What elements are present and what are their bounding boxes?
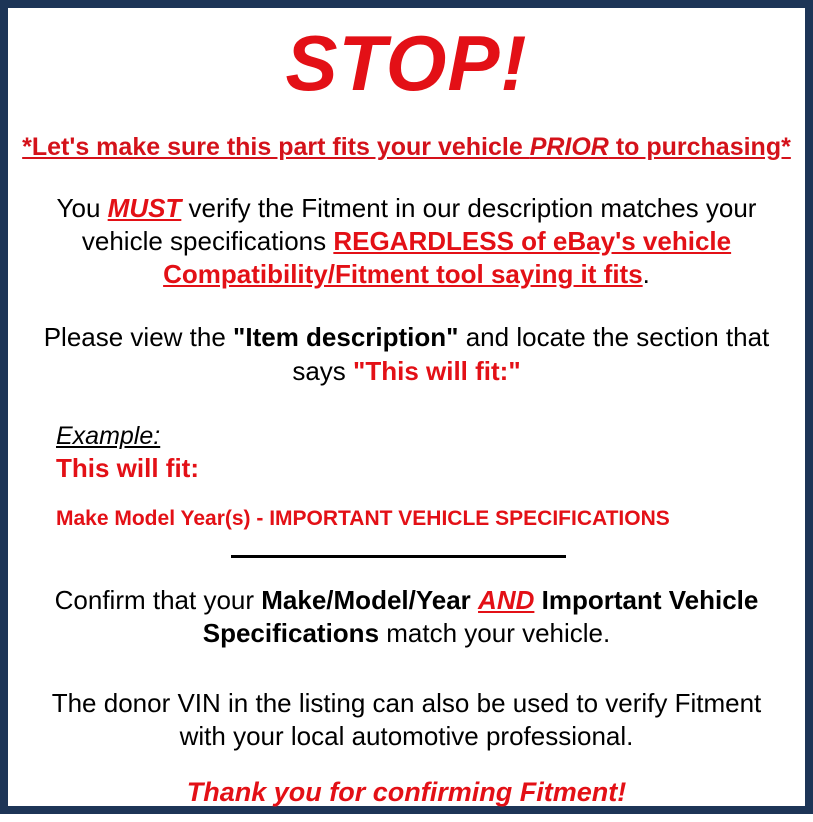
divider-container	[18, 555, 795, 558]
fitment-notice-frame: STOP! *Let's make sure this part fits yo…	[0, 0, 813, 814]
page-title: STOP!	[18, 24, 795, 102]
example-fit-heading: This will fit:	[56, 453, 795, 484]
paragraph-must-verify: You MUST verify the Fitment in our descr…	[18, 192, 795, 292]
view-text-part1: Please view the	[44, 322, 233, 352]
must-text-part1: You	[57, 193, 108, 223]
tagline: *Let's make sure this part fits your veh…	[18, 134, 795, 162]
confirm-text-part3	[534, 585, 541, 615]
must-text-part3: .	[643, 259, 650, 289]
and-emphasis: AND	[478, 585, 534, 615]
paragraph-confirm: Confirm that your Make/Model/Year AND Im…	[18, 584, 795, 651]
this-will-fit-emphasis: "This will fit:"	[353, 356, 521, 386]
paragraph-item-description: Please view the "Item description" and l…	[18, 321, 795, 388]
example-block: Example: This will fit: Make Model Year(…	[18, 422, 795, 531]
tagline-before: *Let's make sure this part fits your veh…	[22, 133, 530, 161]
paragraph-donor-vin: The donor VIN in the listing can also be…	[18, 687, 795, 754]
must-emphasis: MUST	[108, 193, 182, 223]
tagline-after: to purchasing*	[609, 133, 791, 161]
item-description-emphasis: "Item description"	[233, 322, 458, 352]
make-model-year-emphasis: Make/Model/Year	[261, 585, 471, 615]
closing-thank-you: Thank you for confirming Fitment!	[18, 777, 795, 808]
example-spec-line: Make Model Year(s) - IMPORTANT VEHICLE S…	[56, 506, 795, 531]
confirm-text-part4: match your vehicle.	[379, 618, 610, 648]
notice-content: STOP! *Let's make sure this part fits yo…	[8, 24, 805, 822]
horizontal-divider	[231, 555, 566, 558]
confirm-text-part2	[471, 585, 478, 615]
example-label: Example:	[56, 422, 795, 452]
tagline-emphasis: PRIOR	[530, 133, 609, 161]
confirm-text-part1: Confirm that your	[55, 585, 262, 615]
